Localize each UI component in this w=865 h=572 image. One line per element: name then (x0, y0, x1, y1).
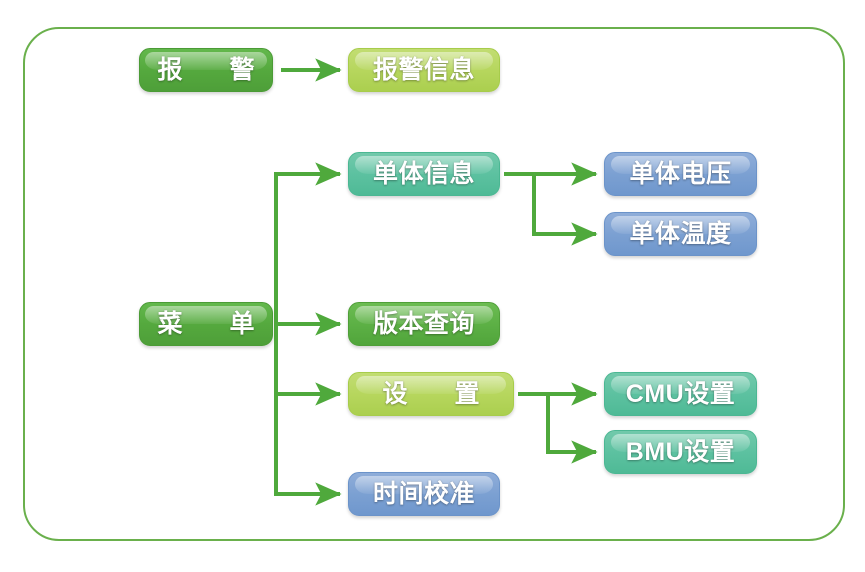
node-settings[interactable]: 设 置 (348, 372, 514, 416)
node-menu-label: 菜 单 (139, 312, 273, 337)
node-time-calibration-label: 时间校准 (373, 482, 475, 507)
node-cell-voltage[interactable]: 单体电压 (604, 152, 757, 196)
node-alarm[interactable]: 报 警 (139, 48, 273, 92)
node-cell-temperature-label: 单体温度 (629, 222, 731, 247)
node-time-calibration[interactable]: 时间校准 (348, 472, 500, 516)
node-menu[interactable]: 菜 单 (139, 302, 273, 346)
node-settings-label: 设 置 (363, 382, 500, 407)
node-version-query[interactable]: 版本查询 (348, 302, 500, 346)
node-cell-info-label: 单体信息 (373, 162, 475, 187)
node-cell-info[interactable]: 单体信息 (348, 152, 500, 196)
node-cmu-settings[interactable]: CMU设置 (604, 372, 757, 416)
node-bmu-settings-label: BMU设置 (626, 440, 735, 465)
node-cell-temperature[interactable]: 单体温度 (604, 212, 757, 256)
node-bmu-settings[interactable]: BMU设置 (604, 430, 757, 474)
node-cell-voltage-label: 单体电压 (629, 162, 731, 187)
node-cmu-settings-label: CMU设置 (626, 382, 735, 407)
node-version-query-label: 版本查询 (373, 312, 475, 337)
node-alarm-info-label: 报警信息 (373, 58, 475, 83)
node-alarm-label: 报 警 (139, 58, 273, 83)
diagram-canvas: 报 警 报警信息 菜 单 单体信息 单体电压 单体温度 版本查询 设 置 CMU… (0, 0, 865, 572)
node-alarm-info[interactable]: 报警信息 (348, 48, 500, 92)
